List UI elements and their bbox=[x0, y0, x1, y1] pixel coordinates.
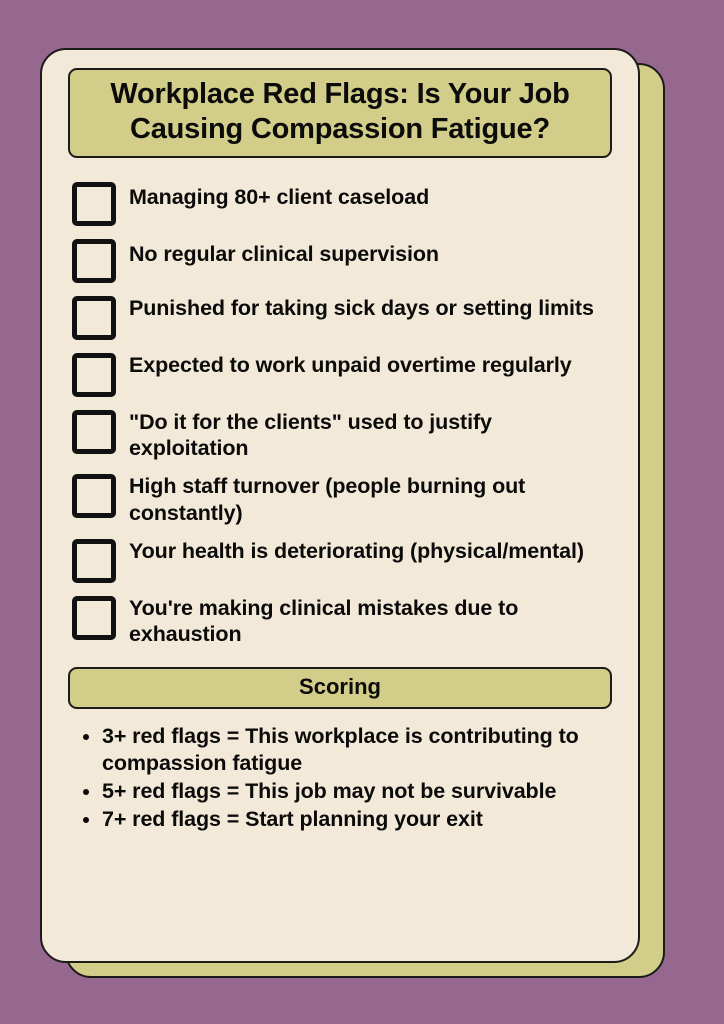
scoring-heading: Scoring bbox=[299, 674, 381, 699]
checkbox-icon[interactable] bbox=[72, 353, 116, 397]
checklist-item-label: You're making clinical mistakes due to e… bbox=[129, 594, 608, 647]
checkbox-icon[interactable] bbox=[72, 296, 116, 340]
red-flags-checklist: Managing 80+ client caseload No regular … bbox=[68, 180, 612, 647]
poster-stage: Workplace Red Flags: Is Your Job Causing… bbox=[0, 0, 724, 1024]
scoring-banner: Scoring bbox=[68, 667, 612, 709]
scoring-rule: 7+ red flags = Start planning your exit bbox=[102, 806, 612, 832]
scoring-rule: 5+ red flags = This job may not be survi… bbox=[102, 778, 612, 804]
card-title-banner: Workplace Red Flags: Is Your Job Causing… bbox=[68, 68, 612, 158]
checklist-item-label: Expected to work unpaid overtime regular… bbox=[129, 351, 572, 378]
scoring-rules-list: 3+ red flags = This workplace is contrib… bbox=[68, 723, 612, 832]
checklist-item-label: Punished for taking sick days or setting… bbox=[129, 294, 594, 321]
checklist-item-label: Your health is deteriorating (physical/m… bbox=[129, 537, 584, 564]
checklist-item[interactable]: Managing 80+ client caseload bbox=[72, 180, 608, 226]
checkbox-icon[interactable] bbox=[72, 539, 116, 583]
checkbox-icon[interactable] bbox=[72, 410, 116, 454]
checklist-item[interactable]: No regular clinical supervision bbox=[72, 237, 608, 283]
checklist-item[interactable]: Punished for taking sick days or setting… bbox=[72, 294, 608, 340]
checkbox-icon[interactable] bbox=[72, 239, 116, 283]
checklist-item[interactable]: You're making clinical mistakes due to e… bbox=[72, 594, 608, 647]
checkbox-icon[interactable] bbox=[72, 596, 116, 640]
checklist-item-label: High staff turnover (people burning out … bbox=[129, 472, 608, 525]
checkbox-icon[interactable] bbox=[72, 182, 116, 226]
checklist-item[interactable]: Your health is deteriorating (physical/m… bbox=[72, 537, 608, 583]
checklist-card: Workplace Red Flags: Is Your Job Causing… bbox=[40, 48, 640, 963]
checklist-item-label: Managing 80+ client caseload bbox=[129, 180, 429, 210]
checkbox-icon[interactable] bbox=[72, 474, 116, 518]
checklist-item[interactable]: High staff turnover (people burning out … bbox=[72, 472, 608, 525]
checklist-item-label: "Do it for the clients" used to justify … bbox=[129, 408, 608, 461]
page-title: Workplace Red Flags: Is Your Job Causing… bbox=[84, 77, 596, 146]
checklist-item-label: No regular clinical supervision bbox=[129, 237, 439, 267]
checklist-item[interactable]: "Do it for the clients" used to justify … bbox=[72, 408, 608, 461]
checklist-item[interactable]: Expected to work unpaid overtime regular… bbox=[72, 351, 608, 397]
scoring-rule: 3+ red flags = This workplace is contrib… bbox=[102, 723, 612, 775]
